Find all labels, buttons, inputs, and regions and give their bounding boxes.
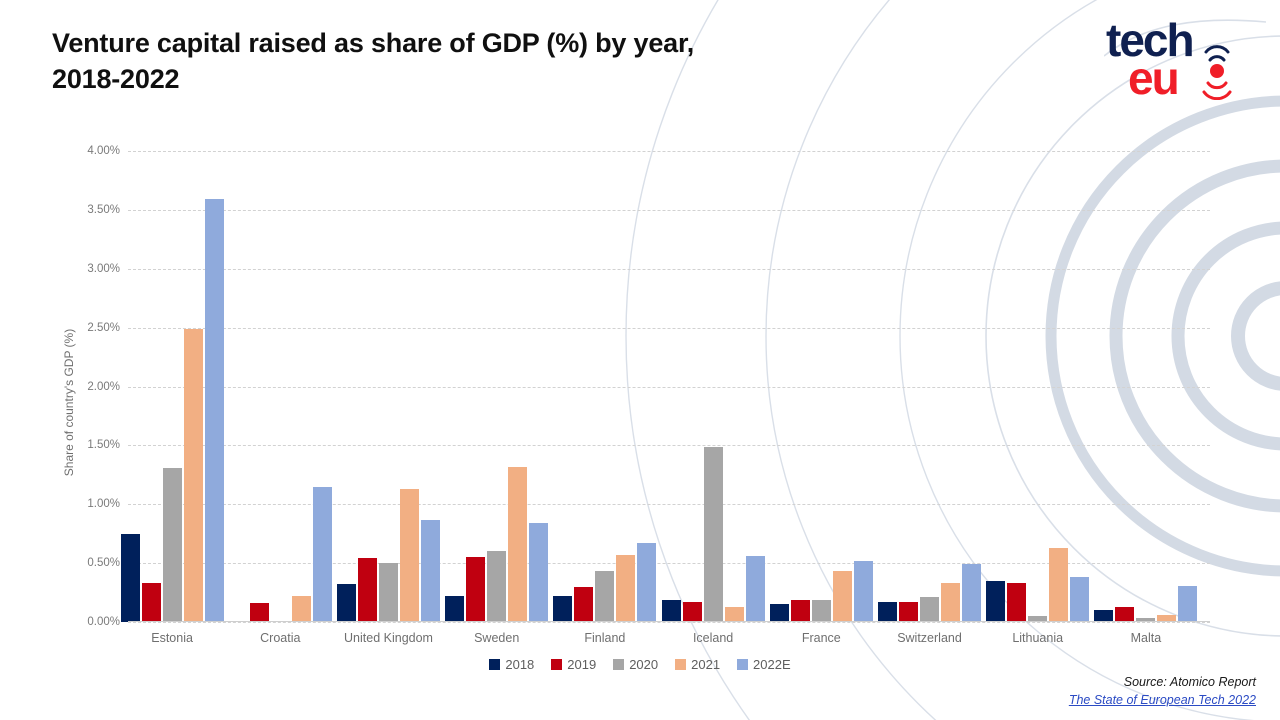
y-axis-tick-label: 2.50% (50, 322, 120, 334)
x-axis-tick-label: Croatia (260, 631, 300, 645)
bar[interactable] (704, 447, 723, 622)
bar[interactable] (833, 571, 852, 622)
source-block: Source: Atomico Report The State of Euro… (1069, 673, 1256, 709)
legend-label: 2022E (753, 657, 791, 672)
bar[interactable] (854, 561, 873, 622)
x-axis-tick-label: Switzerland (897, 631, 962, 645)
bar-group (878, 151, 981, 622)
y-axis-tick-label: 1.50% (50, 439, 120, 451)
legend-swatch (737, 659, 748, 670)
bar[interactable] (683, 602, 702, 622)
bar[interactable] (292, 596, 311, 622)
source-report-link[interactable]: The State of European Tech 2022 (1069, 693, 1256, 707)
x-axis-tick-label: France (802, 631, 841, 645)
legend-item[interactable]: 2021 (675, 657, 720, 672)
bar[interactable] (791, 600, 810, 622)
legend-item[interactable]: 2018 (489, 657, 534, 672)
bar[interactable] (1070, 577, 1089, 622)
legend-swatch (551, 659, 562, 670)
bar[interactable] (466, 557, 485, 622)
legend-item[interactable]: 2020 (613, 657, 658, 672)
bar[interactable] (941, 583, 960, 622)
page-title: Venture capital raised as share of GDP (… (52, 26, 912, 97)
bar-group (986, 151, 1089, 622)
y-axis-tick-label: 2.00% (50, 381, 120, 393)
bar[interactable] (400, 489, 419, 622)
bar[interactable] (529, 523, 548, 622)
bar[interactable] (746, 556, 765, 622)
bar[interactable] (1049, 548, 1068, 622)
plot-area: 0.00%0.50%1.00%1.50%2.00%2.50%3.00%3.50%… (128, 151, 1210, 622)
x-axis-tick-label: Finland (584, 631, 625, 645)
legend-label: 2020 (629, 657, 658, 672)
bar[interactable] (725, 607, 744, 622)
legend-swatch (613, 659, 624, 670)
bar[interactable] (962, 564, 981, 622)
bar[interactable] (421, 520, 440, 622)
bar[interactable] (313, 487, 332, 622)
source-line: Source: Atomico Report (1069, 673, 1256, 691)
bar[interactable] (595, 571, 614, 622)
legend-item[interactable]: 2022E (737, 657, 791, 672)
bar[interactable] (986, 581, 1005, 622)
bar[interactable] (445, 596, 464, 622)
gridline (128, 622, 1210, 623)
legend-swatch (489, 659, 500, 670)
y-axis-tick-label: 0.50% (50, 557, 120, 569)
bar[interactable] (508, 467, 527, 622)
y-axis-tick-label: 4.00% (50, 145, 120, 157)
bar[interactable] (637, 543, 656, 622)
y-axis-tick-label: 0.00% (50, 616, 120, 628)
bar[interactable] (878, 602, 897, 622)
bar-group (445, 151, 548, 622)
bar[interactable] (337, 584, 356, 622)
bar[interactable] (142, 583, 161, 622)
x-axis-tick-label: Lithuania (1012, 631, 1063, 645)
svg-text:eu: eu (1128, 52, 1178, 100)
x-axis-tick-label: Iceland (693, 631, 733, 645)
legend-item[interactable]: 2019 (551, 657, 596, 672)
axis-baseline (128, 621, 1210, 622)
bar-group (553, 151, 656, 622)
legend-label: 2019 (567, 657, 596, 672)
bar[interactable] (920, 597, 939, 622)
y-axis-tick-label: 3.00% (50, 263, 120, 275)
legend-label: 2021 (691, 657, 720, 672)
bar[interactable] (553, 596, 572, 622)
bar[interactable] (163, 468, 182, 622)
bar[interactable] (616, 555, 635, 622)
bar[interactable] (770, 604, 789, 622)
bar[interactable] (205, 199, 224, 622)
bar-group (1094, 151, 1197, 622)
y-axis-tick-label: 3.50% (50, 204, 120, 216)
techeu-logo: tech eu (1104, 8, 1266, 100)
bar[interactable] (358, 558, 377, 622)
bar[interactable] (574, 587, 593, 622)
x-axis-tick-label: United Kingdom (344, 631, 433, 645)
legend-swatch (675, 659, 686, 670)
bar[interactable] (812, 600, 831, 622)
bar[interactable] (184, 329, 203, 622)
bar-group (662, 151, 765, 622)
bar-group (121, 151, 224, 622)
legend-label: 2018 (505, 657, 534, 672)
x-axis-tick-label: Estonia (151, 631, 193, 645)
bar[interactable] (1115, 607, 1134, 622)
bar[interactable] (121, 534, 140, 622)
bar[interactable] (899, 602, 918, 622)
bar-group (229, 151, 332, 622)
bar[interactable] (1178, 586, 1197, 623)
bar[interactable] (379, 563, 398, 622)
y-axis-tick-label: 1.00% (50, 498, 120, 510)
bar-group (770, 151, 873, 622)
bar[interactable] (662, 600, 681, 622)
bar[interactable] (487, 551, 506, 622)
bar[interactable] (250, 603, 269, 622)
bar-group (337, 151, 440, 622)
x-axis-tick-label: Malta (1131, 631, 1162, 645)
x-axis-tick-label: Sweden (474, 631, 519, 645)
chart-legend: 20182019202020212022E (0, 657, 1280, 672)
bar[interactable] (1007, 583, 1026, 622)
